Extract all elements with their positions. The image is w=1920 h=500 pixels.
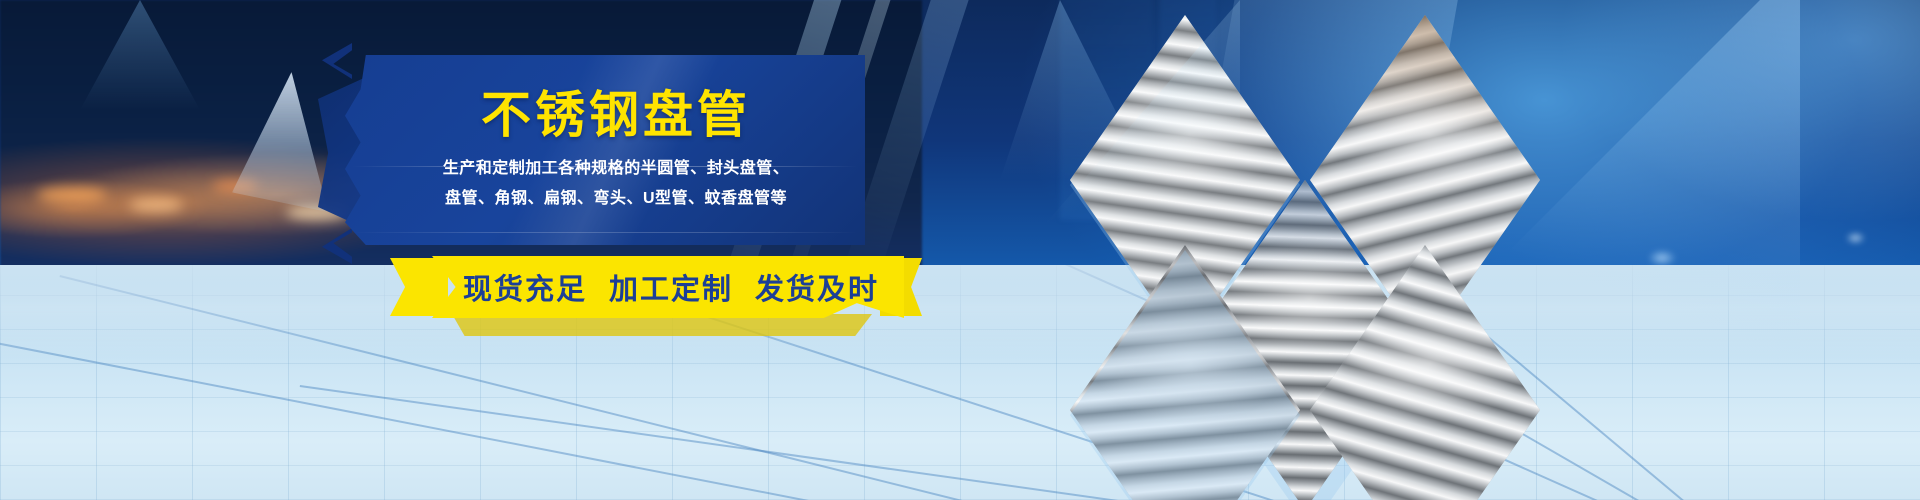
page-title: 不锈钢盘管: [481, 90, 751, 140]
slogan-ribbon-text: 现货充足 加工定制 发货及时: [432, 256, 904, 318]
slogan-item-2: 加工定制: [609, 266, 733, 308]
headline-panel-content: 不锈钢盘管 生产和定制加工各种规格的半圆管、封头盘管、 盘管、角钢、扁钢、弯头、…: [345, 55, 865, 245]
slogan-item-3: 发货及时: [755, 266, 879, 308]
subtitle-line-1: 生产和定制加工各种规格的半圆管、封头盘管、: [443, 154, 790, 184]
promo-banner: 不锈钢盘管 生产和定制加工各种规格的半圆管、封头盘管、 盘管、角钢、扁钢、弯头、…: [0, 0, 1920, 500]
slogan-item-1: 现货充足: [463, 266, 587, 308]
subtitle-line-2: 盘管、角钢、扁钢、弯头、U型管、蚊香盘管等: [445, 184, 787, 214]
